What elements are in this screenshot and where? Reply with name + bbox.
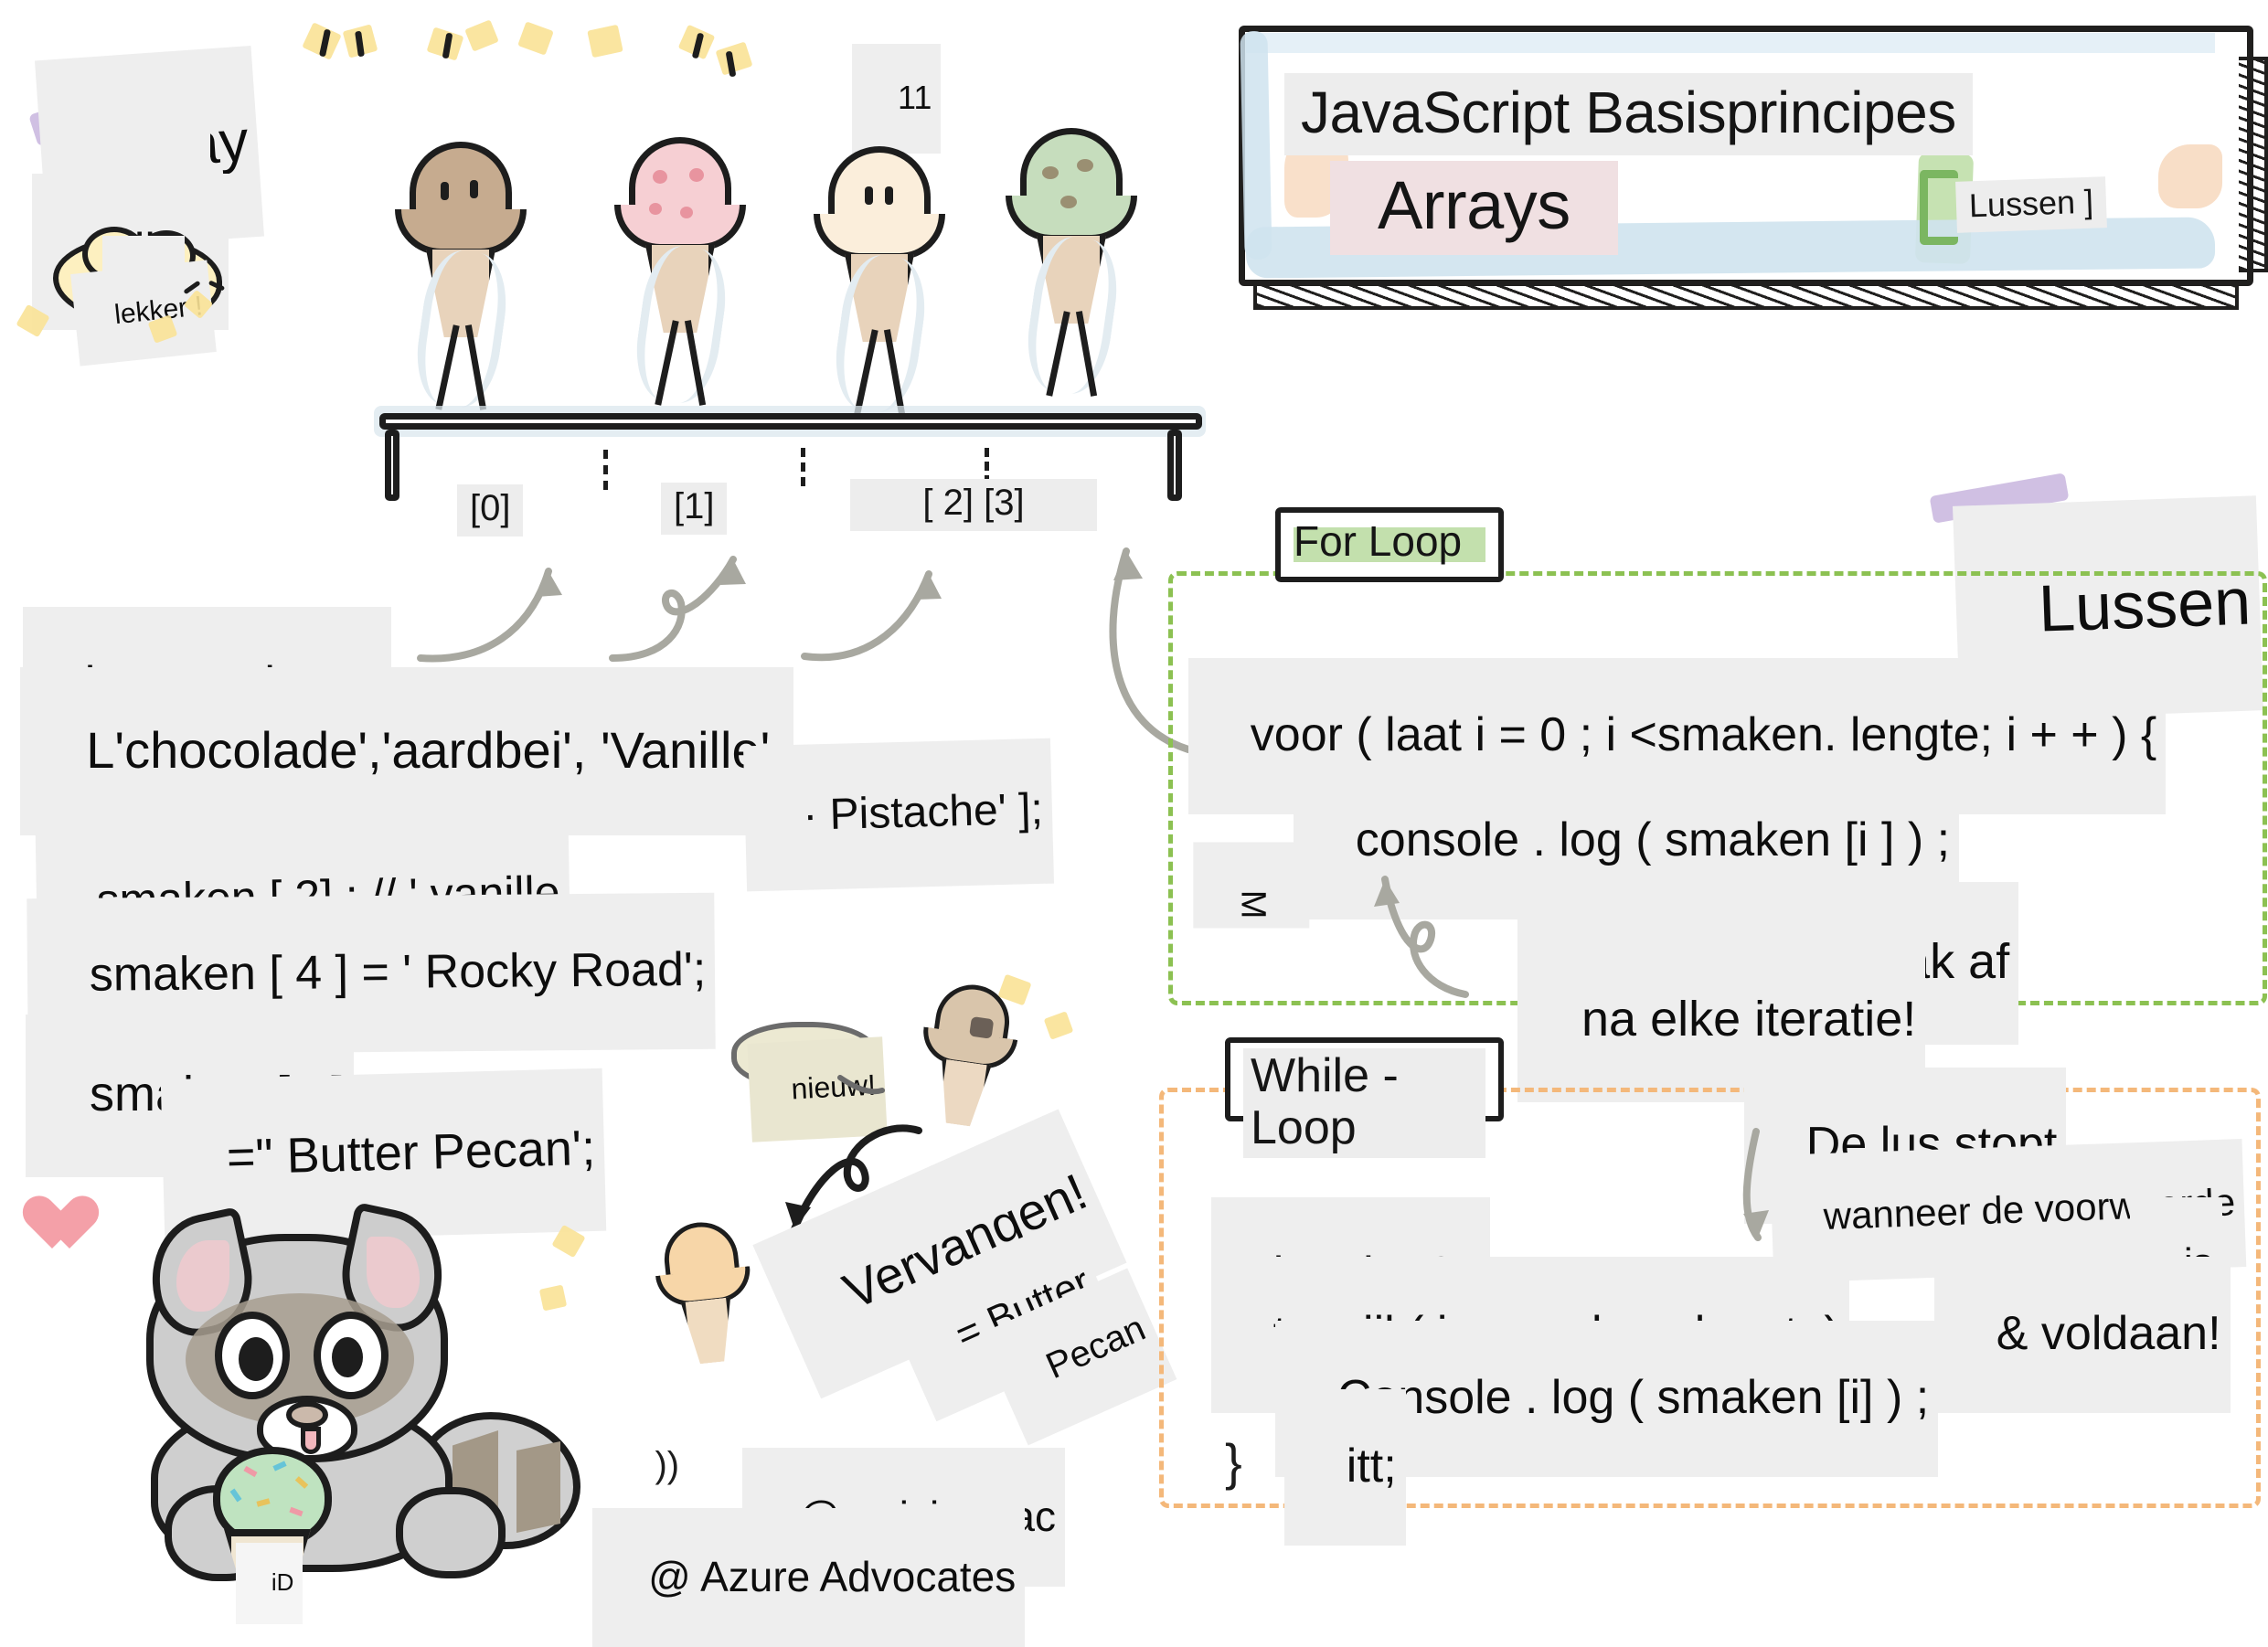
- org-credit: @ Azure Advocates: [592, 1508, 1025, 1647]
- nut-3: [1060, 196, 1077, 208]
- confetti-5: [517, 21, 554, 55]
- org-credit-text: @ Azure Advocates: [648, 1553, 1016, 1600]
- array-shelf: [379, 393, 1202, 475]
- while-loop-code-line-4: itt;: [1284, 1389, 1406, 1546]
- title-board-bracket-label: Lussen ]: [1955, 176, 2107, 233]
- board-hatch-right: [2239, 57, 2268, 272]
- code-line-values: L'chocolade','aardbei', 'Vanille',: [20, 667, 793, 835]
- board-hatch-bottom: [1253, 286, 2239, 310]
- eye-right: [470, 180, 478, 198]
- ice-cream-cone-2: [812, 146, 949, 420]
- index-label-0-text: [0]: [470, 488, 510, 528]
- cone-body: [933, 1058, 992, 1128]
- confetti-10: [1044, 1011, 1074, 1039]
- index-label-2-3: [ 2] [3]: [850, 479, 1097, 531]
- berry-bit-1: [653, 170, 667, 184]
- shelf-leg-right: [1167, 430, 1182, 501]
- new-badge-text: nieuw!: [791, 1068, 877, 1106]
- scoop-drip: [395, 209, 527, 255]
- title-board-subject-text: Arrays: [1378, 167, 1571, 243]
- arrow-to-index-2: [795, 548, 996, 676]
- nut-1: [1042, 166, 1059, 179]
- arrow-to-index-1: [594, 539, 804, 676]
- index-label-0: [0]: [457, 484, 523, 537]
- index-label-2-3-text: [ 2] [3]: [922, 483, 1024, 523]
- code-line-butter-pecan-text: =" Butter Pecan';: [226, 1121, 596, 1185]
- raccoon-illustration: [78, 1202, 571, 1586]
- ice-cream-cone-0: [393, 142, 530, 416]
- index-label-1-text: [1]: [674, 486, 714, 526]
- confetti-6: [587, 25, 623, 58]
- for-loop-code-line-2-text: console . log ( smaken [i ] ) ;: [1356, 813, 1950, 866]
- scoop-drip: [814, 214, 945, 260]
- code-line-values-cont-text: · Pistache' ];: [803, 785, 1044, 840]
- title-board-heading-text: JavaScript Basisprincipes: [1301, 80, 1956, 145]
- stray-mark-text: )): [655, 1445, 679, 1485]
- for-loop-code-line-1-text: voor ( laat i = 0 ; i <smaken. lengte; i…: [1251, 708, 2156, 761]
- poster-canvas: array van ijs m lekker ! 11: [0, 0, 2268, 1599]
- title-board-left-wash: [1240, 31, 1272, 260]
- confetti-4: [464, 19, 499, 51]
- shelf-surface: [379, 413, 1202, 430]
- while-loop-label-box: While - Loop: [1225, 1037, 1504, 1121]
- replaced-value-2-text: Pecan: [1040, 1308, 1152, 1387]
- arrow-to-index-0: [402, 544, 612, 672]
- title-board: JavaScript Basisprincipes Arrays Lussen …: [1239, 26, 2253, 286]
- confetti-number-text: 11: [898, 79, 932, 116]
- new-badge-label: nieuw!: [747, 1036, 887, 1142]
- berry-bit-2: [689, 168, 704, 182]
- eye-left: [441, 182, 449, 200]
- while-loop-code-line-4-text: itt;: [1347, 1440, 1397, 1493]
- ice-cream-cone-1: [612, 137, 750, 411]
- code-line-values-text: L'chocolade','aardbei', 'Vanille',: [86, 721, 784, 779]
- index-label-1: [1]: [661, 483, 727, 535]
- nut-2: [1077, 159, 1093, 172]
- for-loop-closing-brace: M: [1194, 842, 1310, 928]
- berry-bit-3: [649, 203, 662, 215]
- cone-legs: [1042, 309, 1102, 397]
- while-loop-label-text: While - Loop: [1251, 1049, 1399, 1154]
- shelf-leg-left: [385, 430, 399, 501]
- signature-initials-text: iD: [272, 1568, 294, 1596]
- eye-right: [885, 186, 893, 205]
- bracket-icon: [1920, 170, 1958, 245]
- title-board-heading: JavaScript Basisprincipes: [1284, 73, 1973, 155]
- index-tick-0: [603, 450, 608, 490]
- berry-bit-4: [680, 207, 693, 218]
- mouth: [969, 1016, 994, 1039]
- peach-blob-right: [2158, 144, 2222, 208]
- confetti-number-label: 11: [852, 44, 941, 154]
- while-loop-note-line-4-text: & voldaan!: [1996, 1307, 2221, 1360]
- title-board-bracket-label-text: Lussen ]: [1968, 183, 2093, 225]
- for-loop-closing-brace-text: M: [1233, 890, 1272, 919]
- eye-left: [865, 186, 873, 205]
- while-loop-code-line-3-text: Console . log ( smaken [i] ) ;: [1337, 1371, 1929, 1424]
- for-loop-label-text: For Loop: [1294, 517, 1462, 565]
- index-tick-1: [801, 448, 805, 486]
- for-loop-label-box: For Loop: [1275, 507, 1504, 582]
- for-loop-label: For Loop: [1294, 518, 1485, 565]
- while-loop-label: While - Loop: [1243, 1048, 1485, 1158]
- signature-initials: iD: [236, 1543, 303, 1624]
- ice-cream-cone-3: [1004, 128, 1141, 402]
- code-line-assign-rocky-text: smaken [ 4 ] = ' Rocky Road';: [90, 943, 707, 1002]
- while-loop-note-line-4: & voldaan!: [1934, 1257, 2231, 1413]
- for-loop-note-line-2-text: na elke iteratie!: [1581, 992, 1916, 1047]
- code-line-values-cont: · Pistache' ];: [743, 738, 1054, 891]
- while-loop-closing-brace: }: [1225, 1435, 1242, 1489]
- stray-mark: )): [614, 1408, 679, 1524]
- cone-body: [681, 1297, 738, 1365]
- title-board-subject: Arrays: [1330, 161, 1618, 255]
- ice-cream-cone-butter-pecan-new: [649, 1217, 768, 1424]
- title-board-top-wash: [1246, 33, 2215, 53]
